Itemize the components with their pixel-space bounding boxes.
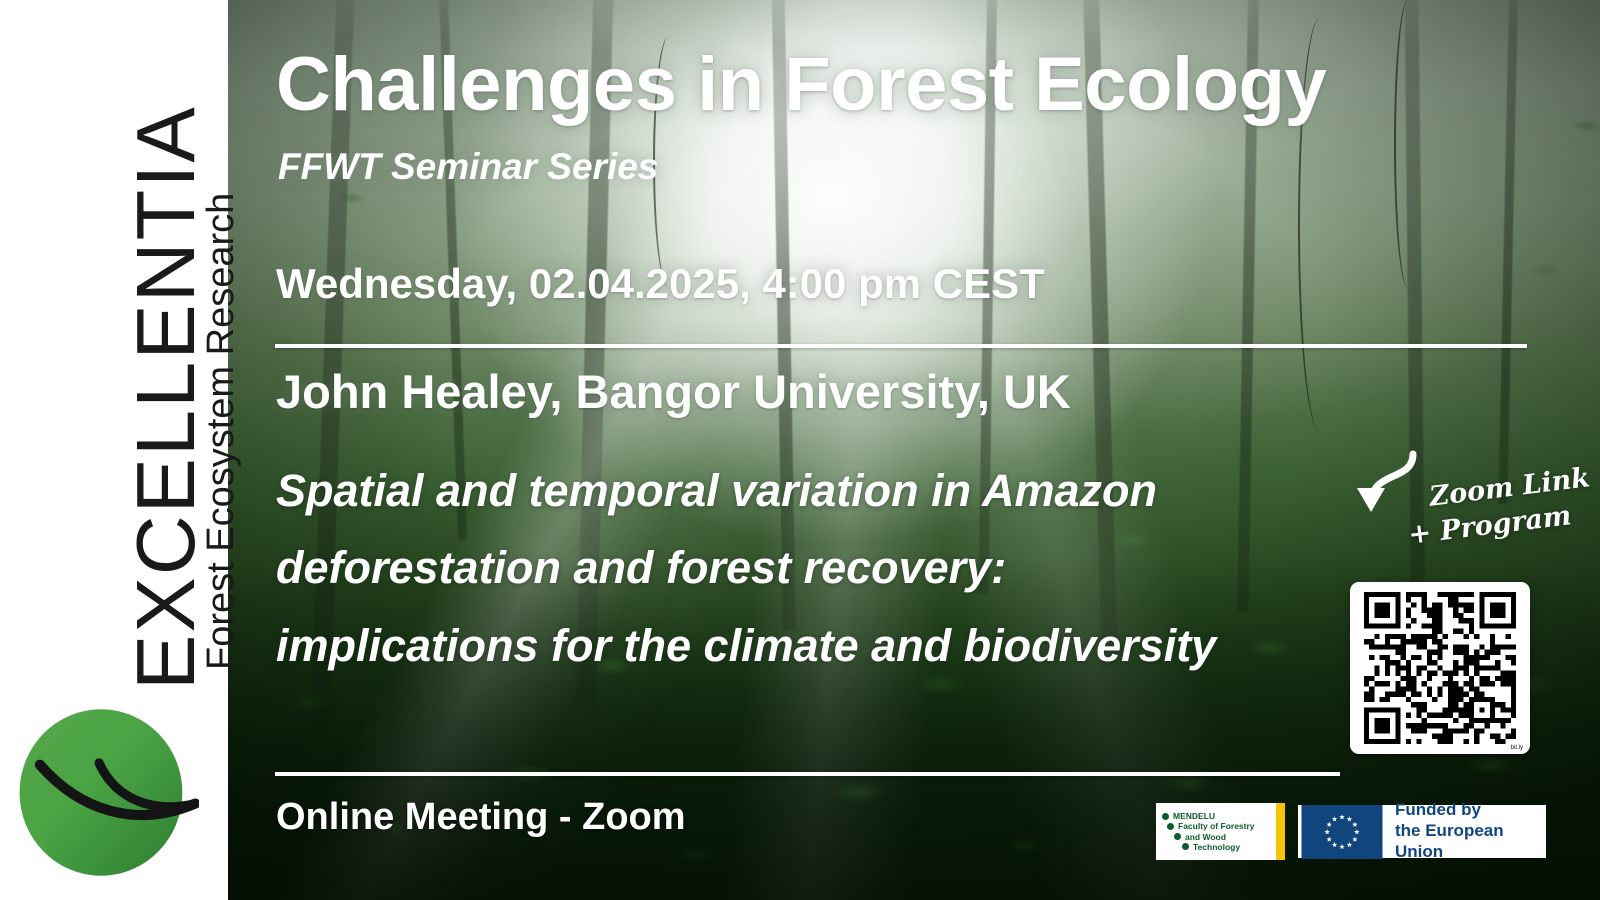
mendelu-line-3: and Wood: [1185, 832, 1226, 842]
mendelu-logo: MENDELU Faculty of Forestry and Wood Tec…: [1156, 803, 1276, 860]
mendelu-row: MENDELU: [1162, 811, 1255, 821]
mendelu-row: Faculty of Forestry: [1162, 821, 1255, 831]
bullet-dot-icon: [1162, 813, 1169, 820]
mendelu-line-4: Technology: [1193, 842, 1240, 852]
mendelu-line-2: Faculty of Forestry: [1178, 821, 1255, 831]
curved-down-left-arrow-icon: [1353, 448, 1423, 520]
speaker-name: John Healey, Bangor University, UK: [276, 364, 1071, 419]
mendelu-line-1: MENDELU: [1173, 811, 1215, 821]
brand-tagline: Forest Ecosystem Research: [200, 193, 243, 670]
mendelu-row: and Wood: [1162, 832, 1255, 842]
qr-caption: bit.ly: [1511, 745, 1523, 751]
divider-bottom: [275, 772, 1340, 776]
zoom-link-callout: Zoom Link + Program: [1353, 448, 1553, 558]
qr-code-card[interactable]: bit.ly: [1350, 582, 1530, 754]
mendelu-row: Technology: [1162, 842, 1255, 852]
page-title: Challenges in Forest Ecology: [276, 47, 1326, 123]
bullet-dot-icon: [1167, 823, 1174, 830]
mendelu-yellow-stripe: [1276, 803, 1285, 860]
eu-flag-icon: [1301, 805, 1383, 859]
eu-funding-logo: Funded by the European Union: [1298, 805, 1546, 858]
bullet-dot-icon: [1174, 833, 1181, 840]
eu-line-2: the European Union: [1395, 821, 1546, 862]
divider-top: [275, 344, 1527, 348]
bullet-dot-icon: [1182, 843, 1189, 850]
leaf-circle-logo: [14, 700, 199, 885]
series-subtitle: FFWT Seminar Series: [278, 146, 658, 188]
poster-content: Challenges in Forest Ecology FFWT Semina…: [228, 0, 1600, 900]
event-datetime: Wednesday, 02.04.2025, 4:00 pm CEST: [276, 260, 1045, 308]
talk-title: Spatial and temporal variation in Amazon…: [276, 452, 1226, 684]
eu-text: Funded by the European Union: [1395, 800, 1546, 862]
eu-line-1: Funded by: [1395, 800, 1546, 821]
qr-code-icon[interactable]: [1364, 592, 1516, 744]
seminar-poster: Challenges in Forest Ecology FFWT Semina…: [0, 0, 1600, 900]
brand-sidebar: EXCELLENTIA Forest Ecosystem Research: [0, 0, 228, 900]
venue-label: Online Meeting - Zoom: [276, 796, 686, 839]
